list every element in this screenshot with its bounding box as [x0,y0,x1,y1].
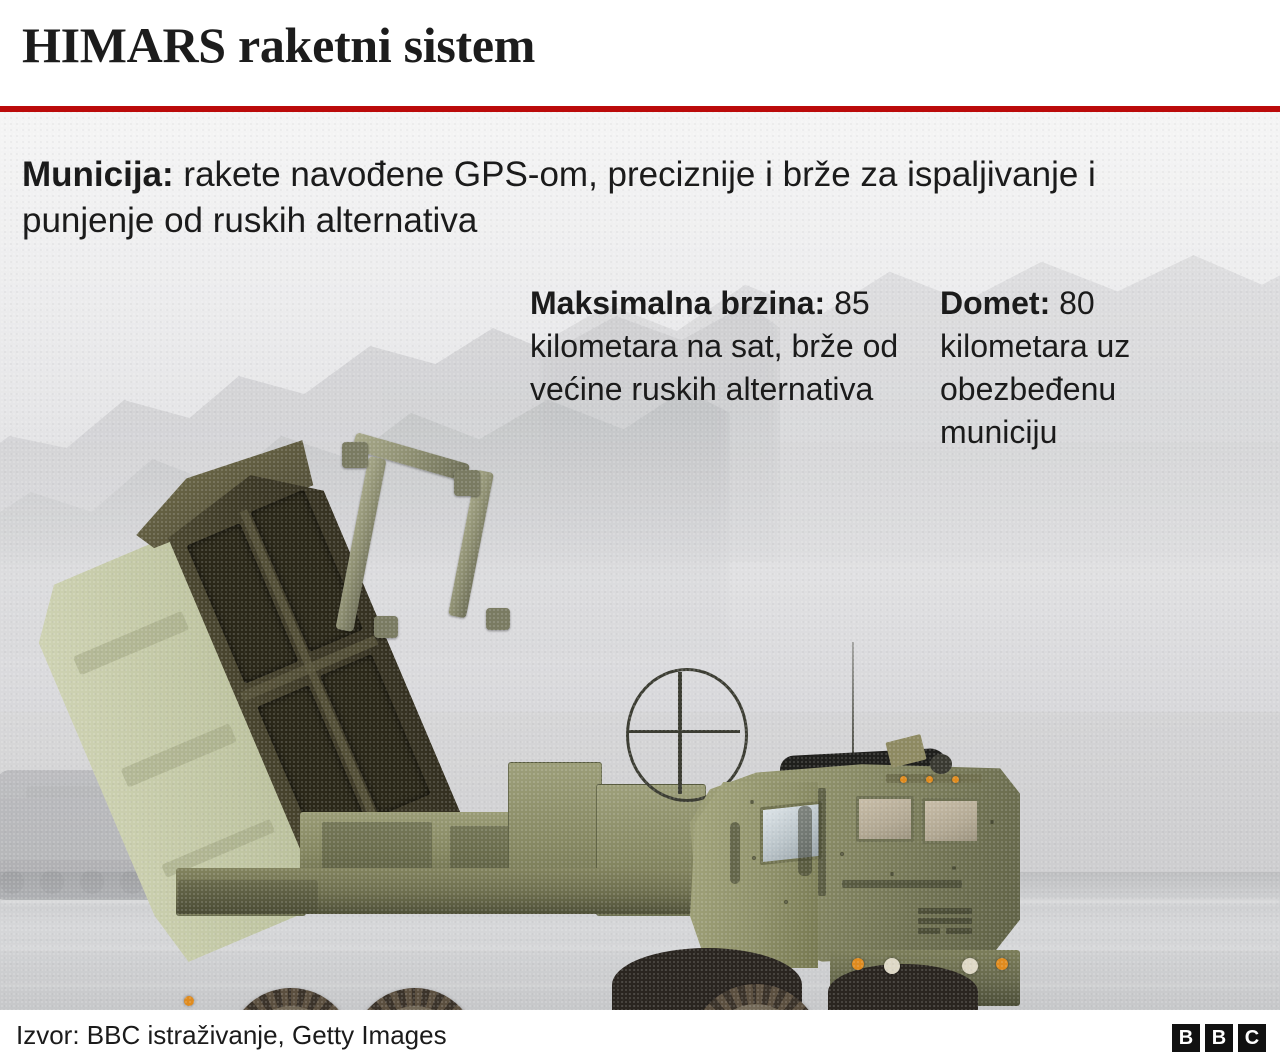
callout-munition: Municija: rakete navođene GPS-om, preciz… [22,152,1162,244]
header: HIMARS raketni sistem [0,0,1280,108]
source-attribution: Izvor: BBC istraživanje, Getty Images [16,1020,447,1051]
infographic-image: Municija: rakete navođene GPS-om, preciz… [0,112,1280,1010]
callout-munition-text: rakete navođene GPS-om, preciznije i brž… [22,155,1096,240]
callout-munition-label: Municija: [22,155,174,194]
callout-range-label: Domet: [940,285,1050,321]
callout-overlay: Municija: rakete navođene GPS-om, preciz… [0,112,1280,1010]
bbc-logo-letter-1: B [1172,1024,1200,1052]
bbc-logo-letter-2: B [1205,1024,1233,1052]
callout-max-speed-label: Maksimalna brzina: [530,285,825,321]
bbc-logo-letter-3: C [1238,1024,1266,1052]
bbc-logo: B B C [1172,1024,1266,1052]
footer: Izvor: BBC istraživanje, Getty Images B … [0,1010,1280,1060]
callout-range: Domet: 80 kilometara uz obezbeđenu munic… [940,282,1240,454]
page-title: HIMARS raketni sistem [22,16,535,74]
callout-max-speed: Maksimalna brzina: 85 kilometara na sat,… [530,282,920,411]
